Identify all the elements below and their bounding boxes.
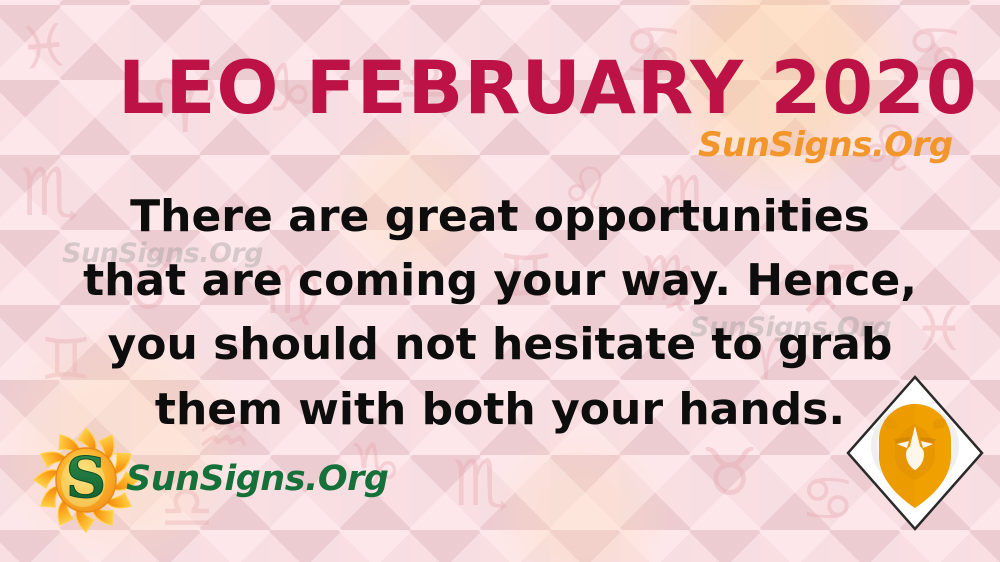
quote-line-3: you should not hesitate to grab <box>18 313 982 377</box>
site-logo[interactable]: S SunSigns.Org <box>30 424 350 536</box>
page-title: LEO FEBRUARY 2020 <box>118 52 978 125</box>
leo-zodiac-badge <box>845 374 985 532</box>
svg-text:S: S <box>66 445 106 511</box>
horoscope-image: ♓♈♑♋♋♌♎♏♏♍♍♐♊♉♓♒♎♏♉♋♑♌♈♊ LEO FEBRUARY 20… <box>0 0 1000 562</box>
quote-line-1: There are great opportunities <box>18 185 982 249</box>
quote-line-2: that are coming your way. Hence, <box>18 249 982 313</box>
logo-brand-label: SunSigns.Org <box>126 462 388 497</box>
brand-label-top: SunSigns.Org <box>698 128 953 162</box>
